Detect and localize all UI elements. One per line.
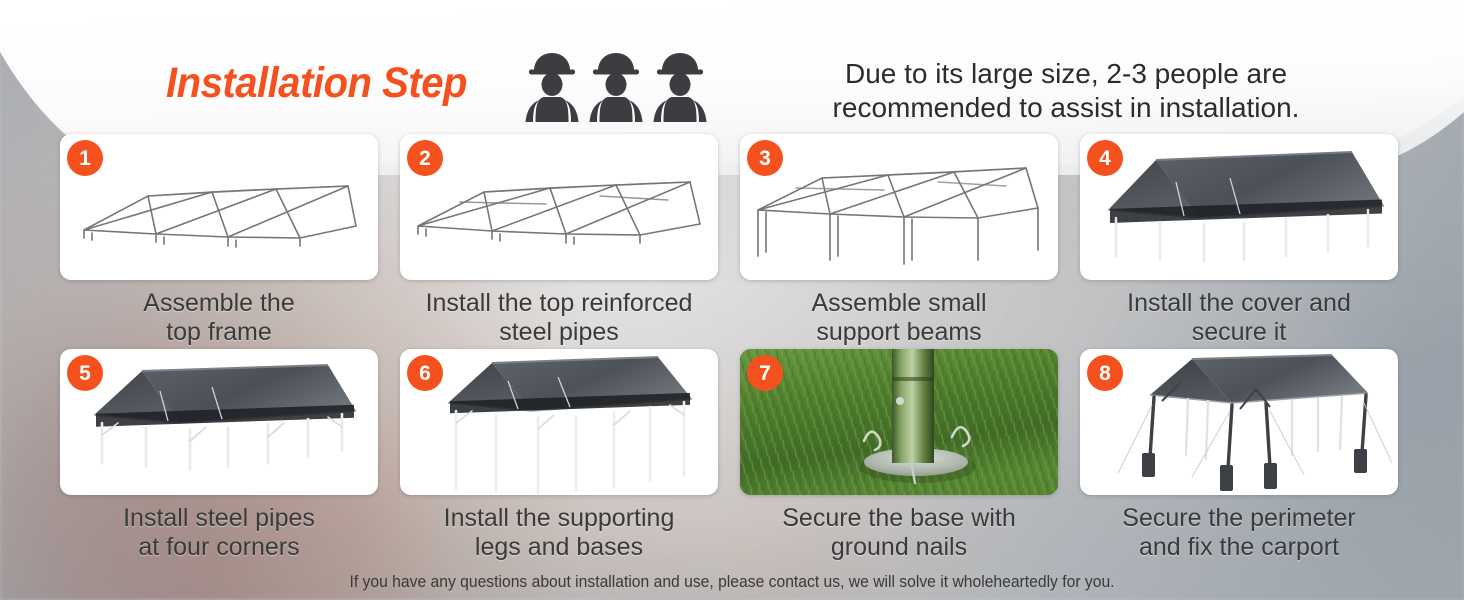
step-illustration-canopy-legs-bases	[400, 349, 718, 495]
step-badge-4: 4	[1087, 140, 1123, 176]
step-badge-5: 5	[67, 355, 103, 391]
step-illustration-frame-with-legs	[740, 134, 1058, 280]
worker-hardhat-icon	[525, 50, 579, 122]
step-card-8: 8	[1080, 349, 1398, 495]
worker-hardhat-icon	[653, 50, 707, 122]
step-card-7: 7	[740, 349, 1058, 495]
step-badge-3: 3	[747, 140, 783, 176]
installation-steps-grid: 1 Assemble th	[60, 134, 1410, 561]
step-item-6: 6	[400, 349, 718, 561]
step-illustration-top-frame-reinforced	[400, 134, 718, 280]
step-caption-2: Install the top reinforced steel pipes	[400, 289, 718, 346]
step-caption-5: Install steel pipes at four corners	[60, 504, 378, 561]
header: Installation Step Due to its large	[0, 0, 1464, 132]
step-card-1: 1	[60, 134, 378, 280]
step-illustration-carport-guy-lines	[1080, 349, 1398, 495]
step-card-3: 3	[740, 134, 1058, 280]
step-badge-1: 1	[67, 140, 103, 176]
step-photo-pole-base-ground-nails	[740, 349, 1058, 495]
installation-notice: Due to its large size, 2-3 people are re…	[782, 57, 1350, 125]
step-caption-6: Install the supporting legs and bases	[400, 504, 718, 561]
step-item-7: 7	[740, 349, 1058, 561]
step-caption-7: Secure the base with ground nails	[740, 504, 1058, 561]
step-item-1: 1 Assemble th	[60, 134, 378, 346]
step-caption-4: Install the cover and secure it	[1080, 289, 1398, 346]
step-card-5: 5	[60, 349, 378, 495]
step-badge-6: 6	[407, 355, 443, 391]
step-item-2: 2 Install the	[400, 134, 718, 346]
step-item-5: 5	[60, 349, 378, 561]
step-caption-8: Secure the perimeter and fix the carport	[1080, 504, 1398, 561]
step-badge-7: 7	[747, 355, 783, 391]
worker-icon-group	[525, 50, 707, 122]
step-badge-8: 8	[1087, 355, 1123, 391]
step-illustration-canopy-cover-on	[1080, 134, 1398, 280]
step-item-4: 4	[1080, 134, 1398, 346]
page-title: Installation Step	[166, 59, 467, 108]
step-card-4: 4	[1080, 134, 1398, 280]
step-illustration-top-frame-skeleton	[60, 134, 378, 280]
step-item-8: 8	[1080, 349, 1398, 561]
step-illustration-canopy-corner-pipes	[60, 349, 378, 495]
step-caption-1: Assemble the top frame	[60, 289, 378, 346]
step-card-2: 2	[400, 134, 718, 280]
step-card-6: 6	[400, 349, 718, 495]
step-item-3: 3 Assemble sm	[740, 134, 1058, 346]
footer-contact-note: If you have any questions about installa…	[37, 573, 1428, 592]
worker-hardhat-icon	[589, 50, 643, 122]
step-caption-3: Assemble small support beams	[740, 289, 1058, 346]
step-badge-2: 2	[407, 140, 443, 176]
